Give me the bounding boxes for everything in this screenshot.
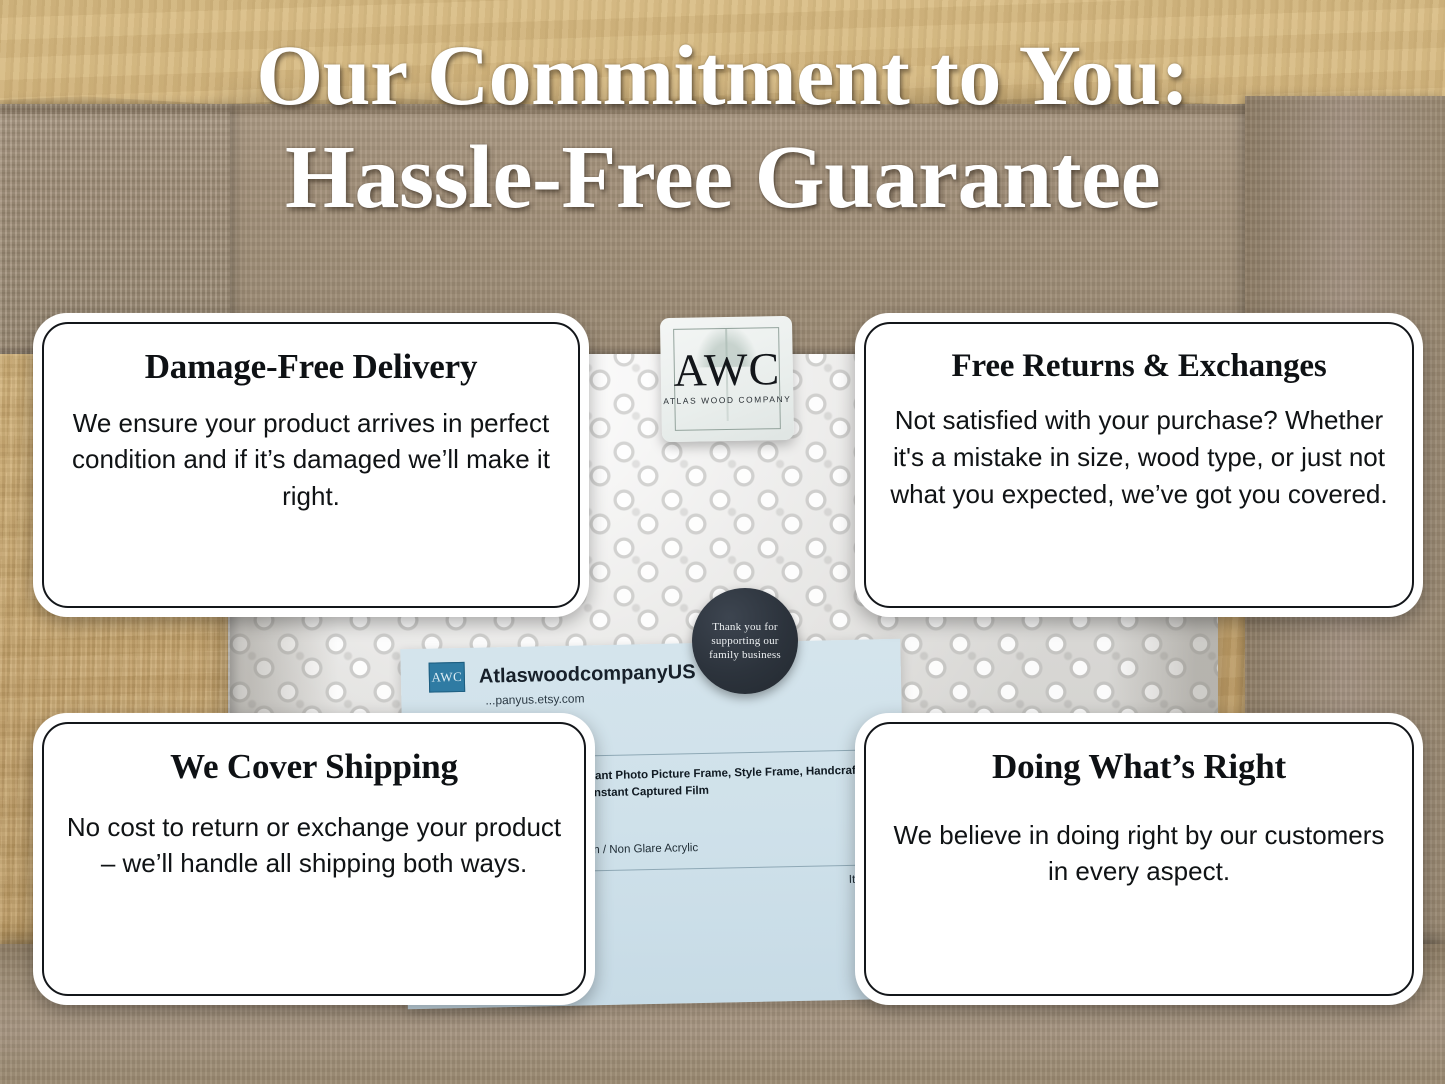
card-title: Damage-Free Delivery <box>145 348 478 387</box>
shop-name: AtlaswoodcompanyUS <box>479 661 696 689</box>
feature-card-we-cover-shipping: We Cover Shipping No cost to return or e… <box>33 713 595 1005</box>
card-title: Doing What’s Right <box>992 748 1286 787</box>
card-inner-border: We Cover Shipping No cost to return or e… <box>42 722 586 996</box>
card-body: No cost to return or exchange your produ… <box>62 809 566 883</box>
card-body: Not satisfied with your purchase? Whethe… <box>884 402 1394 513</box>
card-body: We believe in doing right by our custome… <box>884 817 1394 891</box>
card-inner-border: Free Returns & Exchanges Not satisfied w… <box>864 322 1414 608</box>
card-inner-border: Damage-Free Delivery We ensure your prod… <box>42 322 580 608</box>
marketing-graphic: AWC AtlaswoodcompanyUS ...panyus.etsy.co… <box>0 0 1445 1084</box>
awc-brand-sticker: AWC ATLAS WOOD COMPANY <box>660 316 794 442</box>
awc-monogram: AWC <box>660 346 793 394</box>
thank-you-sticker: Thank you for supporting our family busi… <box>692 588 798 694</box>
card-inner-border: Doing What’s Right We believe in doing r… <box>864 722 1414 996</box>
feature-card-damage-free-delivery: Damage-Free Delivery We ensure your prod… <box>33 313 589 617</box>
feature-card-free-returns-exchanges: Free Returns & Exchanges Not satisfied w… <box>855 313 1423 617</box>
awc-logo-icon: AWC <box>429 662 466 693</box>
thank-you-text: Thank you for supporting our family busi… <box>692 620 798 662</box>
card-title: Free Returns & Exchanges <box>952 348 1327 384</box>
card-body: We ensure your product arrives in perfec… <box>62 405 560 516</box>
card-title: We Cover Shipping <box>170 748 458 787</box>
feature-card-doing-whats-right: Doing What’s Right We believe in doing r… <box>855 713 1423 1005</box>
